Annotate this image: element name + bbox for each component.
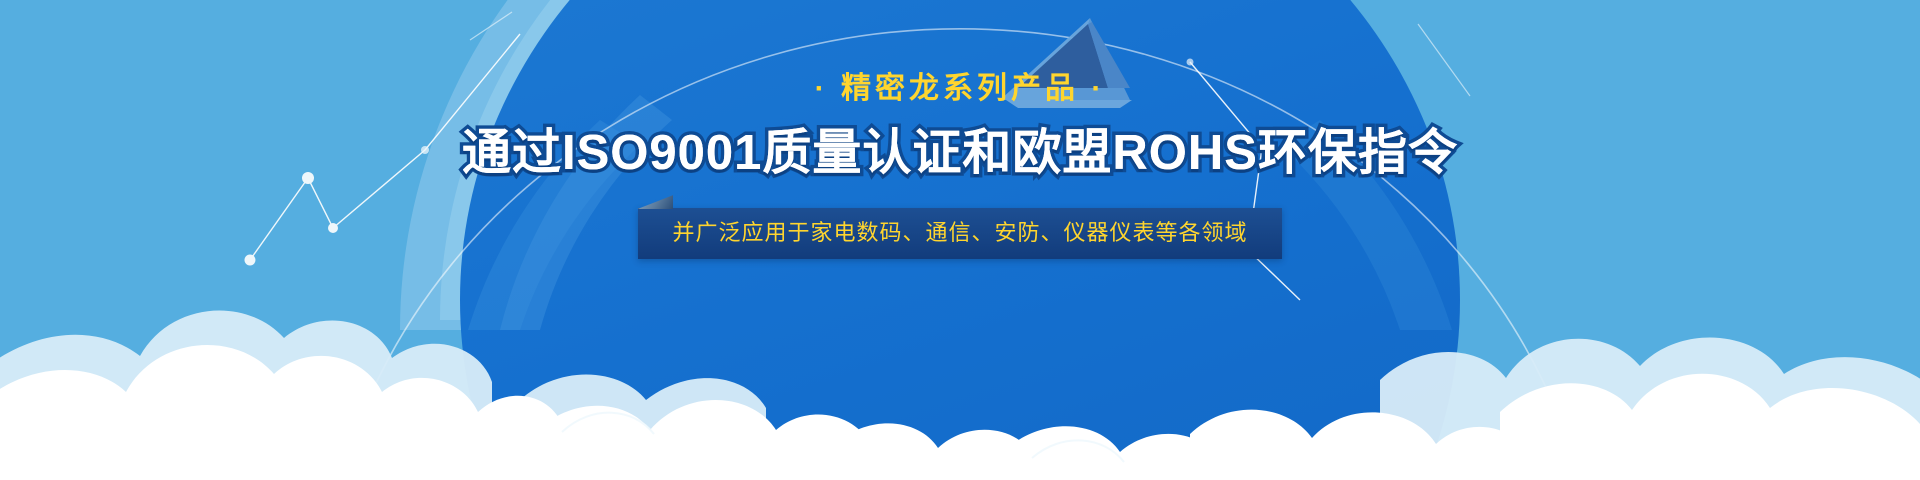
cloud-band (0, 0, 1920, 480)
promo-banner: · 精密龙系列产品 · 通过ISO9001质量认证和欧盟ROHS环保指令 通过I… (0, 0, 1920, 480)
